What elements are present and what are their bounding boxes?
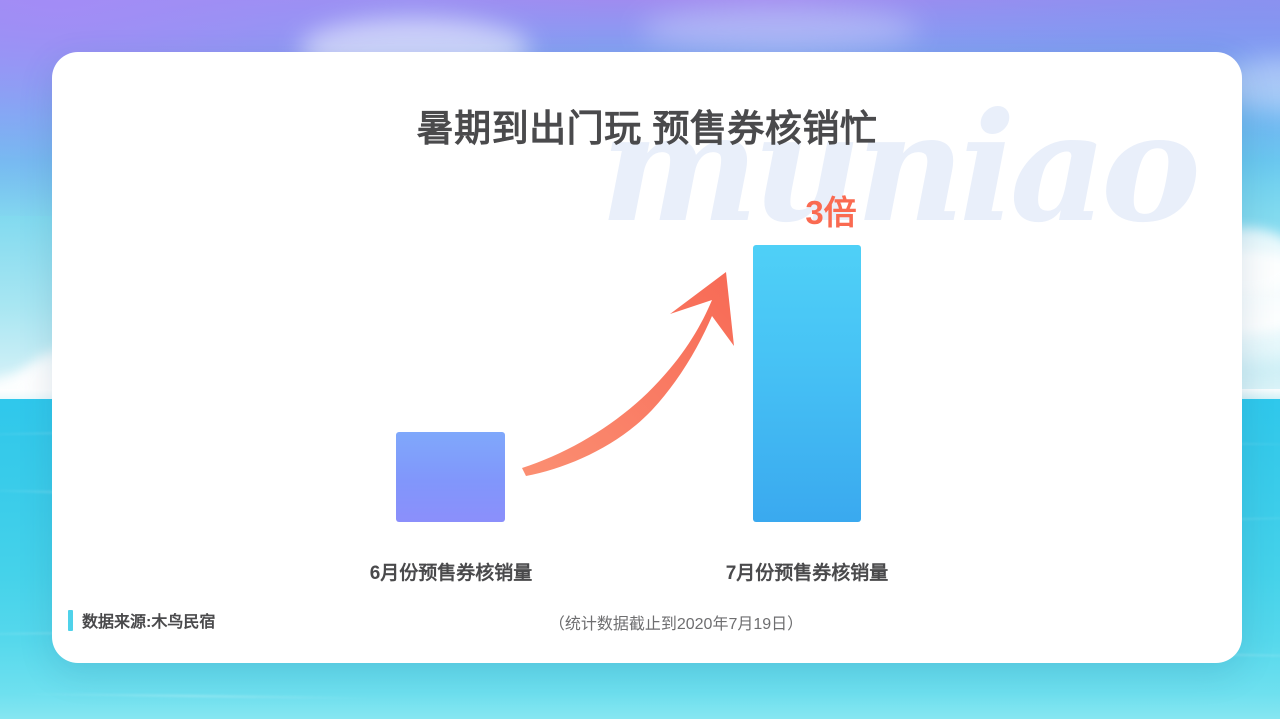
infographic-card: muniao 暑期到出门玩 预售券核销忙 3倍 6月份预售券核销量 7月份预售券	[52, 52, 1242, 663]
statistics-note: （统计数据截止到2020年7月19日）	[436, 610, 916, 634]
cloud-icon	[640, 6, 920, 54]
accent-bar-icon	[68, 610, 73, 631]
bar-july	[753, 245, 861, 522]
bar-label-june: 6月份预售券核销量	[310, 558, 592, 585]
bar-june	[396, 432, 505, 522]
growth-arrow-icon	[520, 270, 760, 480]
bar-label-july: 7月份预售券核销量	[666, 558, 948, 585]
data-source: 数据来源:木鸟民宿	[68, 608, 215, 632]
bar-chart: 6月份预售券核销量 7月份预售券核销量	[52, 52, 1242, 663]
data-source-label: 数据来源:木鸟民宿	[82, 608, 215, 632]
